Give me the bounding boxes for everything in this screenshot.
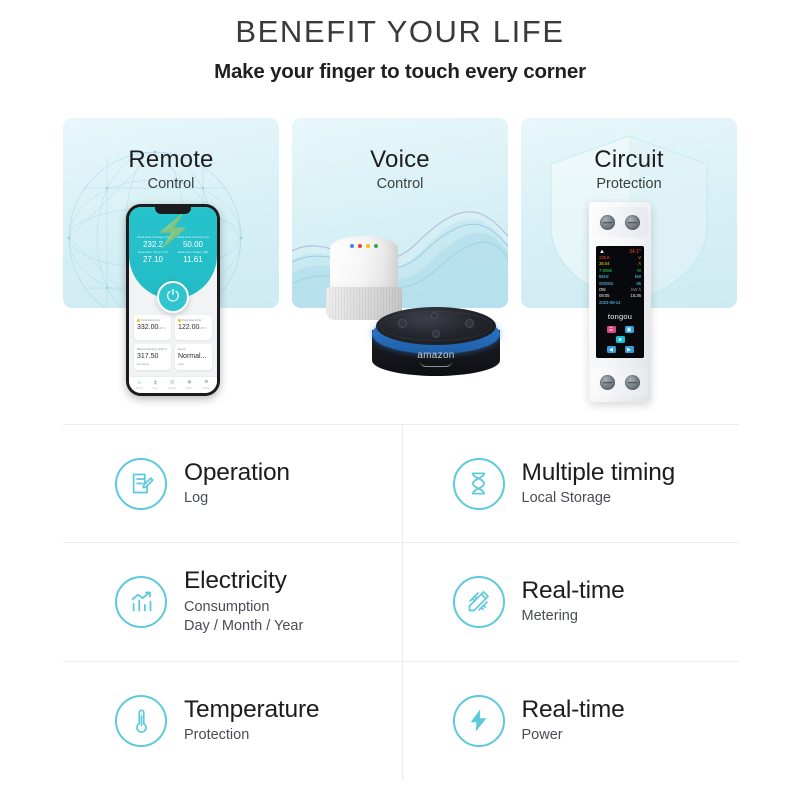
feature-multiple-timing: Multiple timing Local Storage [402, 425, 740, 542]
card-subtitle: Protection [521, 176, 737, 192]
feature-title: Real-time [522, 578, 625, 604]
feature-sub1: Metering [522, 607, 625, 626]
feature-sub1: Protection [184, 726, 319, 745]
card-subtitle: Control [63, 176, 279, 192]
feature-sub1: Local Storage [522, 489, 676, 508]
card-remote-control: Remote Control [63, 118, 279, 308]
thermometer-icon [115, 695, 167, 747]
card-title: Voice [292, 146, 508, 174]
feature-text: Electricity Consumption Day / Month / Ye… [184, 568, 303, 635]
feature-sub1: Power [522, 726, 625, 745]
feature-title: Temperature [184, 697, 319, 723]
page-title: BENEFIT YOUR LIFE [0, 14, 800, 50]
feature-title: Electricity [184, 568, 303, 594]
card-title: Circuit [521, 146, 737, 174]
feature-realtime-power: Real-time Power [402, 662, 740, 780]
feature-temperature-protection: Temperature Protection [63, 662, 402, 780]
feature-row: Operation Log Multiple timing Local Stor… [63, 425, 739, 543]
bar-chart-arrow-icon [115, 576, 167, 628]
feature-text: Operation Log [184, 460, 290, 508]
card-circuit-protection: Circuit Protection [521, 118, 737, 308]
feature-row: Temperature Protection Real-time Power [63, 662, 739, 780]
feature-title: Real-time [522, 697, 625, 723]
document-pen-icon [115, 458, 167, 510]
feature-title: Multiple timing [522, 460, 676, 486]
page-subtitle: Make your finger to touch every corner [0, 60, 800, 84]
feature-text: Temperature Protection [184, 697, 319, 745]
page-header: BENEFIT YOUR LIFE Make your finger to to… [0, 0, 800, 84]
feature-cards: Remote Control Voice Control Circuit Pro… [63, 118, 739, 408]
feature-list: Operation Log Multiple timing Local Stor… [63, 424, 739, 779]
feature-sub2: Day / Month / Year [184, 617, 303, 636]
lightning-bolt-icon [453, 695, 505, 747]
feature-sub1: Log [184, 489, 290, 508]
feature-row: Electricity Consumption Day / Month / Ye… [63, 543, 739, 661]
feature-realtime-metering: Real-time Metering [402, 543, 740, 660]
card-subtitle: Control [292, 176, 508, 192]
feature-text: Real-time Power [522, 697, 625, 745]
feature-electricity-consumption: Electricity Consumption Day / Month / Ye… [63, 543, 402, 660]
feature-text: Multiple timing Local Storage [522, 460, 676, 508]
feature-title: Operation [184, 460, 290, 486]
feature-sub1: Consumption [184, 598, 303, 617]
card-title: Remote [63, 146, 279, 174]
pencil-ruler-icon [453, 576, 505, 628]
card-voice-control: Voice Control [292, 118, 508, 308]
feature-operation-log: Operation Log [63, 425, 402, 542]
feature-text: Real-time Metering [522, 578, 625, 626]
hourglass-icon [453, 458, 505, 510]
